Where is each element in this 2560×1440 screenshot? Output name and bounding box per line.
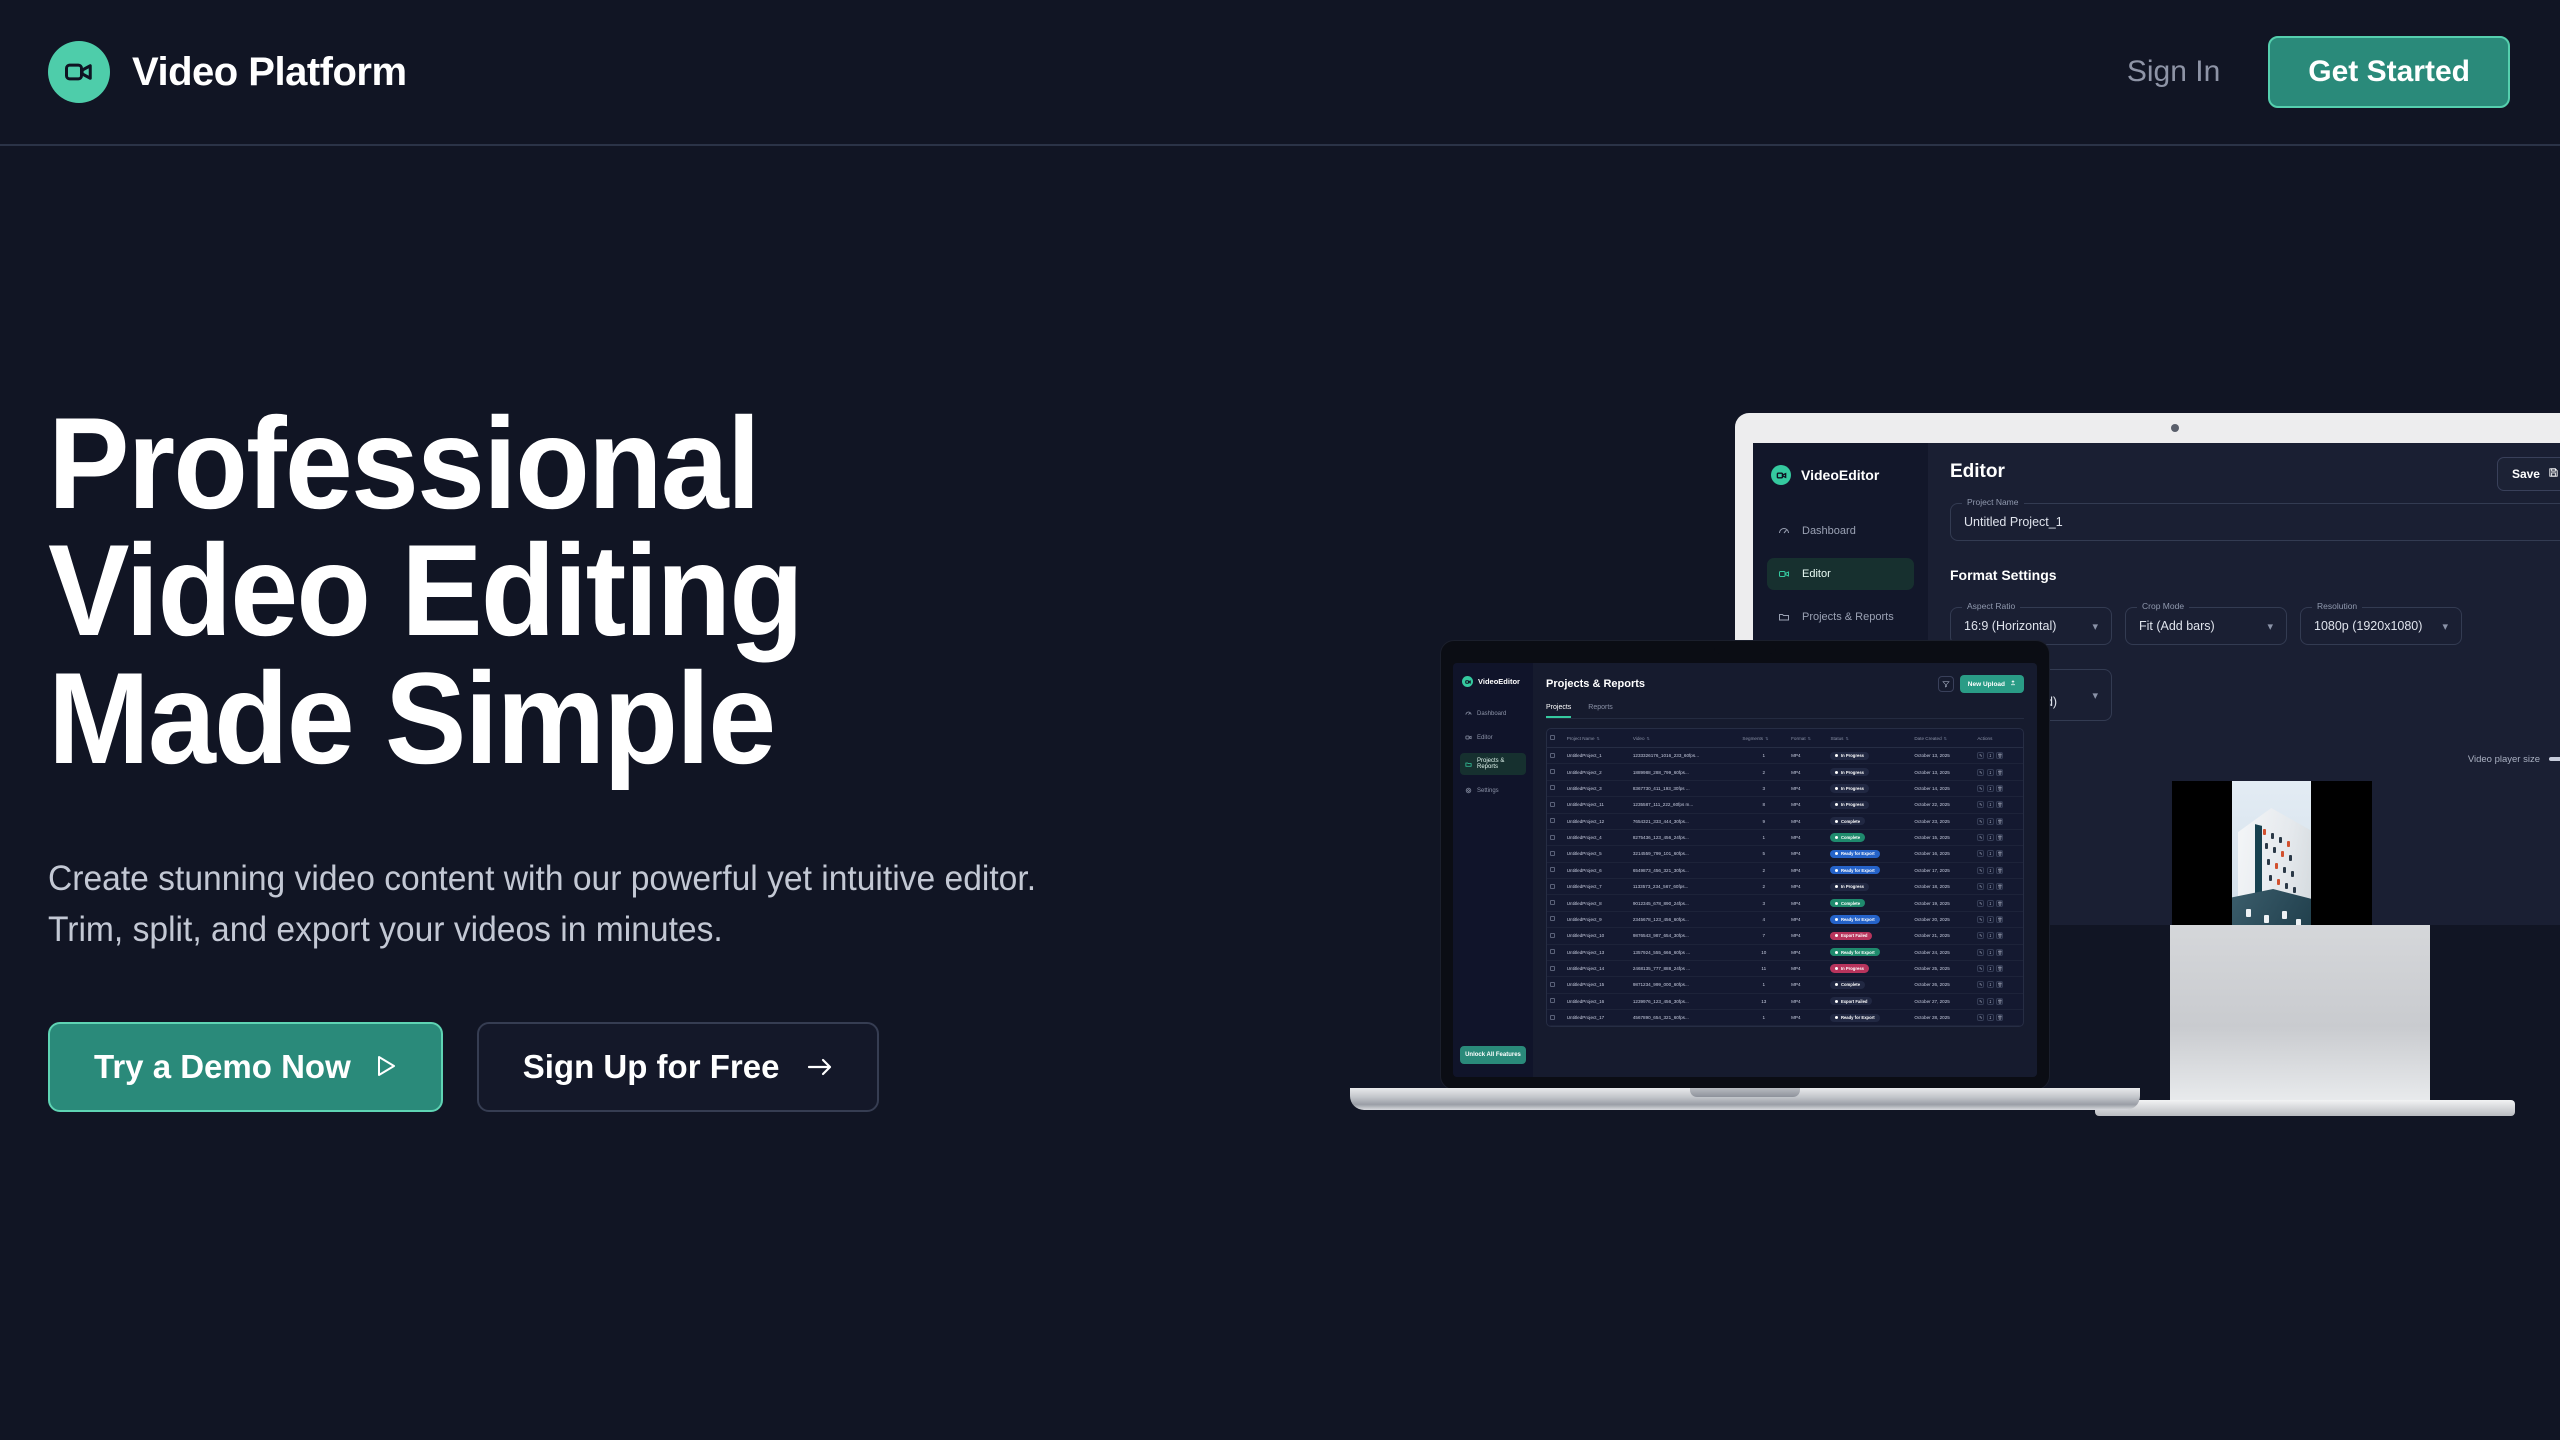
status-badge: Complete [1830, 833, 1865, 841]
trash-icon[interactable]: 🗑 [1996, 1014, 2003, 1021]
table-row[interactable]: UntitledProject_111235587_111_222_60fps … [1547, 797, 2023, 813]
cell-date-created: October 27, 2025 [1911, 993, 1974, 1009]
cell-status: Ready for Export [1827, 911, 1911, 927]
download-icon[interactable]: ↧ [1987, 932, 1994, 939]
sign-in-link[interactable]: Sign In [2127, 55, 2220, 89]
sidebar-item-dashboard[interactable]: Dashboard [1767, 515, 1914, 547]
cell-format: MP4 [1788, 993, 1827, 1009]
floppy-disk-icon [2548, 467, 2559, 481]
row-checkbox[interactable] [1547, 944, 1564, 960]
download-icon[interactable]: ↧ [1987, 850, 1994, 857]
laptop-brand: VideoEditor [1460, 676, 1526, 687]
download-icon[interactable]: ↧ [1987, 883, 1994, 890]
status-badge: In Progress [1830, 801, 1869, 809]
edit-icon[interactable]: ✎ [1977, 769, 1984, 776]
crop-mode-label: Crop Mode [2137, 601, 2189, 611]
slider-track[interactable] [2549, 757, 2560, 761]
cell-status: Ready for Export [1827, 1010, 1911, 1026]
checkbox-icon[interactable] [1550, 735, 1555, 740]
cell-project-name: UntitledProject_13 [1564, 944, 1630, 960]
cell-video: 4567890_654_321_60fps... [1630, 1010, 1740, 1026]
tab-projects[interactable]: Projects [1546, 704, 1571, 718]
cell-status: Complete [1827, 895, 1911, 911]
checkbox-icon[interactable] [1550, 818, 1555, 823]
trash-icon[interactable]: 🗑 [1996, 818, 2003, 825]
cell-segments: 2 [1739, 879, 1788, 895]
table-header: Project Name⇅ Video⇅ Segments⇅ Format⇅ S… [1547, 729, 2023, 748]
edit-icon[interactable]: ✎ [1977, 867, 1984, 874]
new-upload-label: New Upload [1968, 681, 2005, 688]
edit-icon[interactable]: ✎ [1977, 785, 1984, 792]
cell-project-name: UntitledProject_7 [1564, 879, 1630, 895]
cell-actions: ✎↧🗑 [1974, 1010, 2023, 1026]
checkbox-icon[interactable] [1550, 769, 1555, 774]
sidebar-item-label: Projects & Reports [1802, 611, 1894, 623]
hero-subtitle: Create stunning video content with our p… [48, 854, 1075, 956]
trash-icon[interactable]: 🗑 [1996, 867, 2003, 874]
trash-icon[interactable]: 🗑 [1996, 801, 2003, 808]
checkbox-icon[interactable] [1550, 867, 1555, 872]
row-checkbox[interactable] [1547, 829, 1564, 845]
table-row[interactable]: UntitledProject_53214559_799_101_60fps..… [1547, 846, 2023, 862]
column-date-created[interactable]: Date Created⇅ [1911, 729, 1974, 748]
trash-icon[interactable]: 🗑 [1996, 949, 2003, 956]
table-row[interactable]: UntitledProject_142468135_777_888_24fps … [1547, 960, 2023, 976]
download-icon[interactable]: ↧ [1987, 752, 1994, 759]
download-icon[interactable]: ↧ [1987, 1014, 1994, 1021]
cell-project-name: UntitledProject_9 [1564, 911, 1630, 927]
monitor-stand-foot [2095, 1100, 2515, 1116]
cell-format: MP4 [1788, 846, 1827, 862]
cell-video: 3214559_799_101_60fps... [1630, 846, 1740, 862]
row-checkbox[interactable] [1547, 748, 1564, 764]
site-header: Video Platform Sign In Get Started [0, 0, 2560, 146]
sidebar-item-editor[interactable]: Editor [1767, 558, 1914, 590]
upload-icon [2010, 680, 2016, 688]
column-project-name[interactable]: Project Name⇅ [1564, 729, 1630, 748]
sort-icon: ⇅ [1808, 736, 1811, 741]
cell-format: MP4 [1788, 911, 1827, 927]
cell-segments: 4 [1739, 911, 1788, 927]
table-row[interactable]: UntitledProject_66549873_456_321_30fps..… [1547, 862, 2023, 878]
edit-icon[interactable]: ✎ [1977, 998, 1984, 1005]
row-checkbox[interactable] [1547, 1010, 1564, 1026]
cell-status: In Progress [1827, 764, 1911, 780]
edit-icon[interactable]: ✎ [1977, 801, 1984, 808]
table-row[interactable]: UntitledProject_159871234_999_000_60fps.… [1547, 977, 2023, 993]
cell-actions: ✎↧🗑 [1974, 748, 2023, 764]
cell-project-name: UntitledProject_12 [1564, 813, 1630, 829]
resolution-label: Resolution [2312, 601, 2362, 611]
checkbox-icon[interactable] [1550, 900, 1555, 905]
checkbox-icon[interactable] [1550, 966, 1555, 971]
checkbox-icon[interactable] [1550, 982, 1555, 987]
cell-status: Complete [1827, 829, 1911, 845]
checkbox-icon[interactable] [1550, 916, 1555, 921]
row-checkbox[interactable] [1547, 862, 1564, 878]
editor-brand: VideoEditor [1767, 465, 1914, 485]
aspect-ratio-value: 16:9 (Horizontal) [1964, 619, 2056, 633]
cell-project-name: UntitledProject_6 [1564, 862, 1630, 878]
row-checkbox[interactable] [1547, 928, 1564, 944]
cell-format: MP4 [1788, 780, 1827, 796]
cell-actions: ✎↧🗑 [1974, 928, 2023, 944]
laptop-body: VideoEditor Dashboard Edit [1440, 640, 2050, 1090]
cell-date-created: October 15, 2025 [1911, 829, 1974, 845]
cell-format: MP4 [1788, 748, 1827, 764]
checkbox-icon[interactable] [1550, 851, 1555, 856]
cell-status: Export Failed [1827, 928, 1911, 944]
resolution-select[interactable]: Resolution 1080p (1920x1080) ▾ [2300, 607, 2462, 645]
sidebar-item-label: Editor [1477, 735, 1493, 741]
checkbox-icon[interactable] [1550, 884, 1555, 889]
sort-icon: ⇅ [1944, 736, 1947, 741]
speedometer-icon [1465, 710, 1472, 717]
column-status[interactable]: Status⇅ [1827, 729, 1911, 748]
row-checkbox[interactable] [1547, 895, 1564, 911]
webcam-icon [2171, 424, 2179, 432]
sidebar-item-label: Settings [1477, 788, 1499, 794]
save-button[interactable]: Save [2497, 457, 2560, 491]
cell-date-created: October 16, 2025 [1911, 846, 1974, 862]
cell-date-created: October 26, 2025 [1911, 977, 1974, 993]
trash-icon[interactable]: 🗑 [1996, 932, 2003, 939]
cell-actions: ✎↧🗑 [1974, 879, 2023, 895]
trash-icon[interactable]: 🗑 [1996, 785, 2003, 792]
cell-segments: 11 [1739, 960, 1788, 976]
cell-segments: 13 [1739, 993, 1788, 1009]
cell-format: MP4 [1788, 829, 1827, 845]
trash-icon[interactable]: 🗑 [1996, 965, 2003, 972]
new-upload-button[interactable]: New Upload [1960, 675, 2024, 693]
cell-video: 6549873_456_321_30fps... [1630, 862, 1740, 878]
status-badge: Export Failed [1830, 932, 1872, 940]
cell-date-created: October 20, 2025 [1911, 911, 1974, 927]
arrow-right-icon [807, 1048, 833, 1086]
get-started-button[interactable]: Get Started [2268, 36, 2510, 108]
projects-header-actions: New Upload [1938, 675, 2024, 693]
cell-date-created: October 23, 2025 [1911, 813, 1974, 829]
cell-video: 1133573_234_567_60fps... [1630, 879, 1740, 895]
checkbox-icon[interactable] [1550, 933, 1555, 938]
chevron-down-icon: ▾ [2092, 620, 2098, 633]
cell-project-name: UntitledProject_15 [1564, 977, 1630, 993]
cell-video: 9876543_987_654_30fps... [1630, 928, 1740, 944]
cell-video: 1239976_123_456_30fps... [1630, 993, 1740, 1009]
cell-segments: 1 [1739, 829, 1788, 845]
download-icon[interactable]: ↧ [1987, 867, 1994, 874]
download-icon[interactable]: ↧ [1987, 834, 1994, 841]
cell-video: 8275436_123_456_24fps... [1630, 829, 1740, 845]
table-row[interactable]: UntitledProject_161239976_123_456_30fps.… [1547, 993, 2023, 1009]
download-icon[interactable]: ↧ [1987, 998, 1994, 1005]
row-checkbox[interactable] [1547, 813, 1564, 829]
monitor-stand-neck [2170, 925, 2430, 1110]
download-icon[interactable]: ↧ [1987, 981, 1994, 988]
row-checkbox[interactable] [1547, 846, 1564, 862]
header-actions: Sign In Get Started [2127, 36, 2510, 108]
sidebar-item-settings[interactable]: Settings [1460, 782, 1526, 799]
format-settings-title: Format Settings [1950, 567, 2560, 583]
cell-segments: 8 [1739, 797, 1788, 813]
unlock-all-features-button[interactable]: Unlock All Features [1460, 1046, 1526, 1064]
trash-icon[interactable]: 🗑 [1996, 981, 2003, 988]
download-icon[interactable]: ↧ [1987, 818, 1994, 825]
video-camera-icon [48, 41, 110, 103]
hero-title-line-1: Professional [48, 400, 1082, 527]
video-camera-icon [1777, 567, 1791, 581]
table-row[interactable]: UntitledProject_21889988_288_799_60fps..… [1547, 764, 2023, 780]
edit-icon[interactable]: ✎ [1977, 965, 1984, 972]
row-checkbox[interactable] [1547, 993, 1564, 1009]
status-badge: Ready for Export [1830, 1014, 1879, 1022]
table-row[interactable]: UntitledProject_38367730_411_193_30fps .… [1547, 780, 2023, 796]
cell-date-created: October 19, 2025 [1911, 895, 1974, 911]
table-row[interactable]: UntitledProject_48275436_123_456_24fps..… [1547, 829, 2023, 845]
projects-tabs: Projects Reports [1546, 704, 2024, 719]
projects-table-wrapper: Project Name⇅ Video⇅ Segments⇅ Format⇅ S… [1546, 728, 2024, 1027]
landing-page: Video Platform Sign In Get Started Profe… [0, 0, 2560, 1440]
laptop-base-notch [1690, 1088, 1800, 1097]
player-size-label: Video player size [2468, 754, 2540, 765]
status-badge: Ready for Export [1830, 850, 1879, 858]
cell-segments: 3 [1739, 780, 1788, 796]
status-badge: In Progress [1830, 784, 1869, 792]
download-icon[interactable]: ↧ [1987, 769, 1994, 776]
chevron-down-icon: ▾ [2267, 620, 2273, 633]
edit-icon[interactable]: ✎ [1977, 883, 1984, 890]
cell-date-created: October 18, 2025 [1911, 879, 1974, 895]
cell-status: In Progress [1827, 780, 1911, 796]
editor-topbar: Editor Save Exp [1950, 461, 2560, 483]
cell-format: MP4 [1788, 1010, 1827, 1026]
cell-video: 9012345_678_890_24fps... [1630, 895, 1740, 911]
edit-icon[interactable]: ✎ [1977, 949, 1984, 956]
status-badge: In Progress [1830, 752, 1869, 760]
table-header-row: Project Name⇅ Video⇅ Segments⇅ Format⇅ S… [1547, 729, 2023, 748]
save-label: Save [2512, 467, 2540, 481]
cell-date-created: October 13, 2025 [1911, 748, 1974, 764]
cell-status: Complete [1827, 977, 1911, 993]
cell-format: MP4 [1788, 813, 1827, 829]
table-row[interactable]: UntitledProject_174567890_654_321_60fps.… [1547, 1010, 2023, 1026]
edit-icon[interactable]: ✎ [1977, 834, 1984, 841]
cell-project-name: UntitledProject_17 [1564, 1010, 1630, 1026]
row-checkbox[interactable] [1547, 797, 1564, 813]
crop-mode-select[interactable]: Crop Mode Fit (Add bars) ▾ [2125, 607, 2287, 645]
download-icon[interactable]: ↧ [1987, 900, 1994, 907]
download-icon[interactable]: ↧ [1987, 801, 1994, 808]
cell-actions: ✎↧🗑 [1974, 797, 2023, 813]
table-row[interactable]: UntitledProject_89012345_678_890_24fps..… [1547, 895, 2023, 911]
checkbox-icon[interactable] [1550, 998, 1555, 1003]
cell-status: Ready for Export [1827, 846, 1911, 862]
cell-segments: 1 [1739, 1010, 1788, 1026]
row-checkbox[interactable] [1547, 911, 1564, 927]
folder-icon [1465, 761, 1472, 768]
download-icon[interactable]: ↧ [1987, 965, 1994, 972]
cell-status: Export Failed [1827, 993, 1911, 1009]
sign-up-button[interactable]: Sign Up for Free [477, 1022, 880, 1112]
checkbox-icon[interactable] [1550, 1015, 1555, 1020]
cell-status: In Progress [1827, 797, 1911, 813]
sidebar-item-label: Editor [1802, 568, 1831, 580]
hero-section: Professional Video Editing Made Simple C… [48, 400, 1148, 1112]
cell-project-name: UntitledProject_2 [1564, 764, 1630, 780]
gear-icon [1465, 787, 1472, 794]
row-checkbox[interactable] [1547, 879, 1564, 895]
cell-video: 2345678_123_456_60fps... [1630, 911, 1740, 927]
cell-date-created: October 22, 2025 [1911, 797, 1974, 813]
checkbox-icon[interactable] [1550, 802, 1555, 807]
table-row[interactable]: UntitledProject_127654321_333_444_30fps.… [1547, 813, 2023, 829]
video-camera-icon [1771, 465, 1791, 485]
status-badge: Ready for Export [1830, 866, 1879, 874]
edit-icon[interactable]: ✎ [1977, 1014, 1984, 1021]
laptop-brand-name: VideoEditor [1478, 677, 1520, 686]
cell-date-created: October 13, 2025 [1911, 764, 1974, 780]
cell-project-name: UntitledProject_1 [1564, 748, 1630, 764]
project-name-value: Untitled Project_1 [1964, 515, 2063, 529]
cell-date-created: October 17, 2025 [1911, 862, 1974, 878]
checkbox-icon[interactable] [1550, 753, 1555, 758]
sort-icon: ⇅ [1845, 736, 1848, 741]
download-icon[interactable]: ↧ [1987, 916, 1994, 923]
status-badge: In Progress [1830, 964, 1869, 972]
video-camera-icon [1465, 734, 1472, 741]
cell-video: 8367730_411_193_30fps ... [1630, 780, 1740, 796]
cell-project-name: UntitledProject_8 [1564, 895, 1630, 911]
table-row[interactable]: UntitledProject_11233326176_1016_233_60f… [1547, 748, 2023, 764]
sort-icon: ⇅ [1647, 736, 1650, 741]
row-checkbox[interactable] [1547, 960, 1564, 976]
cell-status: Ready for Export [1827, 862, 1911, 878]
cell-project-name: UntitledProject_14 [1564, 960, 1630, 976]
trash-icon[interactable]: 🗑 [1996, 850, 2003, 857]
row-checkbox[interactable] [1547, 780, 1564, 796]
table-row[interactable]: UntitledProject_109876543_987_654_30fps.… [1547, 928, 2023, 944]
checkbox-icon[interactable] [1550, 949, 1555, 954]
cell-segments: 3 [1739, 895, 1788, 911]
trash-icon[interactable]: 🗑 [1996, 834, 2003, 841]
resolution-value: 1080p (1920x1080) [2314, 619, 2422, 633]
checkbox-icon[interactable] [1550, 785, 1555, 790]
edit-icon[interactable]: ✎ [1977, 818, 1984, 825]
product-mockup: VideoEditor Dashboard Editor [1350, 400, 2560, 1220]
laptop-notch [1714, 641, 1776, 654]
edit-icon[interactable]: ✎ [1977, 932, 1984, 939]
cell-segments: 9 [1739, 813, 1788, 829]
editor-page-title: Editor [1950, 461, 2005, 483]
cell-video: 1889988_288_799_60fps... [1630, 764, 1740, 780]
edit-icon[interactable]: ✎ [1977, 850, 1984, 857]
cell-status: In Progress [1827, 748, 1911, 764]
edit-icon[interactable]: ✎ [1977, 981, 1984, 988]
video-camera-icon [1462, 676, 1473, 687]
sidebar-item-projects-reports[interactable]: Projects & Reports [1767, 601, 1914, 633]
cell-status: Ready for Export [1827, 944, 1911, 960]
video-player[interactable] [2172, 781, 2372, 925]
edit-icon[interactable]: ✎ [1977, 900, 1984, 907]
column-select-all[interactable] [1547, 729, 1564, 748]
checkbox-icon[interactable] [1550, 835, 1555, 840]
cell-project-name: UntitledProject_11 [1564, 797, 1630, 813]
column-format[interactable]: Format⇅ [1788, 729, 1827, 748]
edit-icon[interactable]: ✎ [1977, 752, 1984, 759]
cell-project-name: UntitledProject_3 [1564, 780, 1630, 796]
table-row[interactable]: UntitledProject_71133573_234_567_60fps..… [1547, 879, 2023, 895]
download-icon[interactable]: ↧ [1987, 785, 1994, 792]
table-row[interactable]: UntitledProject_92345678_123_456_60fps..… [1547, 911, 2023, 927]
cell-date-created: October 25, 2025 [1911, 960, 1974, 976]
project-name-field[interactable]: Project Name Untitled Project_1 [1950, 503, 2560, 541]
hero-title-line-3: Made Simple [48, 655, 1082, 782]
trash-icon[interactable]: 🗑 [1996, 916, 2003, 923]
cell-format: MP4 [1788, 797, 1827, 813]
laptop-main: Projects & Reports New Upload [1533, 663, 2037, 1077]
hero-title-line-2: Video Editing [48, 527, 1082, 654]
sidebar-item-dashboard[interactable]: Dashboard [1460, 705, 1526, 722]
cell-actions: ✎↧🗑 [1974, 764, 2023, 780]
sort-icon: ⇅ [1765, 736, 1768, 741]
trash-icon[interactable]: 🗑 [1996, 883, 2003, 890]
trash-icon[interactable]: 🗑 [1996, 769, 2003, 776]
sign-up-label: Sign Up for Free [523, 1048, 780, 1086]
sidebar-item-projects-reports[interactable]: Projects & Reports [1460, 753, 1526, 775]
cell-segments: 7 [1739, 928, 1788, 944]
cell-segments: 2 [1739, 764, 1788, 780]
cell-format: MP4 [1788, 944, 1827, 960]
cell-status: Complete [1827, 813, 1911, 829]
cell-actions: ✎↧🗑 [1974, 911, 2023, 927]
try-demo-button[interactable]: Try a Demo Now [48, 1022, 443, 1112]
status-badge: Export Failed [1830, 997, 1872, 1005]
cell-format: MP4 [1788, 862, 1827, 878]
player-size-slider[interactable]: Video player size [2468, 754, 2560, 765]
cell-date-created: October 21, 2025 [1911, 928, 1974, 944]
row-checkbox[interactable] [1547, 977, 1564, 993]
brand[interactable]: Video Platform [48, 41, 407, 103]
aspect-ratio-label: Aspect Ratio [1962, 601, 2020, 611]
editor-action-buttons: Save Exp [2497, 457, 2560, 491]
edit-icon[interactable]: ✎ [1977, 916, 1984, 923]
trash-icon[interactable]: 🗑 [1996, 752, 2003, 759]
table-body: UntitledProject_11233326176_1016_233_60f… [1547, 748, 2023, 1026]
status-badge: Ready for Export [1830, 948, 1879, 956]
cell-status: In Progress [1827, 879, 1911, 895]
funnel-icon[interactable] [1938, 676, 1954, 692]
cell-actions: ✎↧🗑 [1974, 993, 2023, 1009]
row-checkbox[interactable] [1547, 764, 1564, 780]
column-segments[interactable]: Segments⇅ [1739, 729, 1788, 748]
download-icon[interactable]: ↧ [1987, 949, 1994, 956]
cell-date-created: October 28, 2025 [1911, 1010, 1974, 1026]
trash-icon[interactable]: 🗑 [1996, 998, 2003, 1005]
cell-segments: 1 [1739, 977, 1788, 993]
column-video[interactable]: Video⇅ [1630, 729, 1740, 748]
projects-table: Project Name⇅ Video⇅ Segments⇅ Format⇅ S… [1547, 729, 2023, 1026]
trash-icon[interactable]: 🗑 [1996, 900, 2003, 907]
cell-format: MP4 [1788, 879, 1827, 895]
sidebar-item-editor[interactable]: Editor [1460, 729, 1526, 746]
table-row[interactable]: UntitledProject_131357924_555_666_60fps … [1547, 944, 2023, 960]
video-thumbnail [2232, 781, 2311, 925]
format-settings-row-1: Aspect Ratio 16:9 (Horizontal) ▾ Crop Mo… [1950, 587, 2560, 645]
page-title: Professional Video Editing Made Simple [48, 400, 1082, 782]
try-demo-label: Try a Demo Now [94, 1048, 351, 1086]
tab-reports[interactable]: Reports [1588, 704, 1613, 718]
cell-project-name: UntitledProject_5 [1564, 846, 1630, 862]
